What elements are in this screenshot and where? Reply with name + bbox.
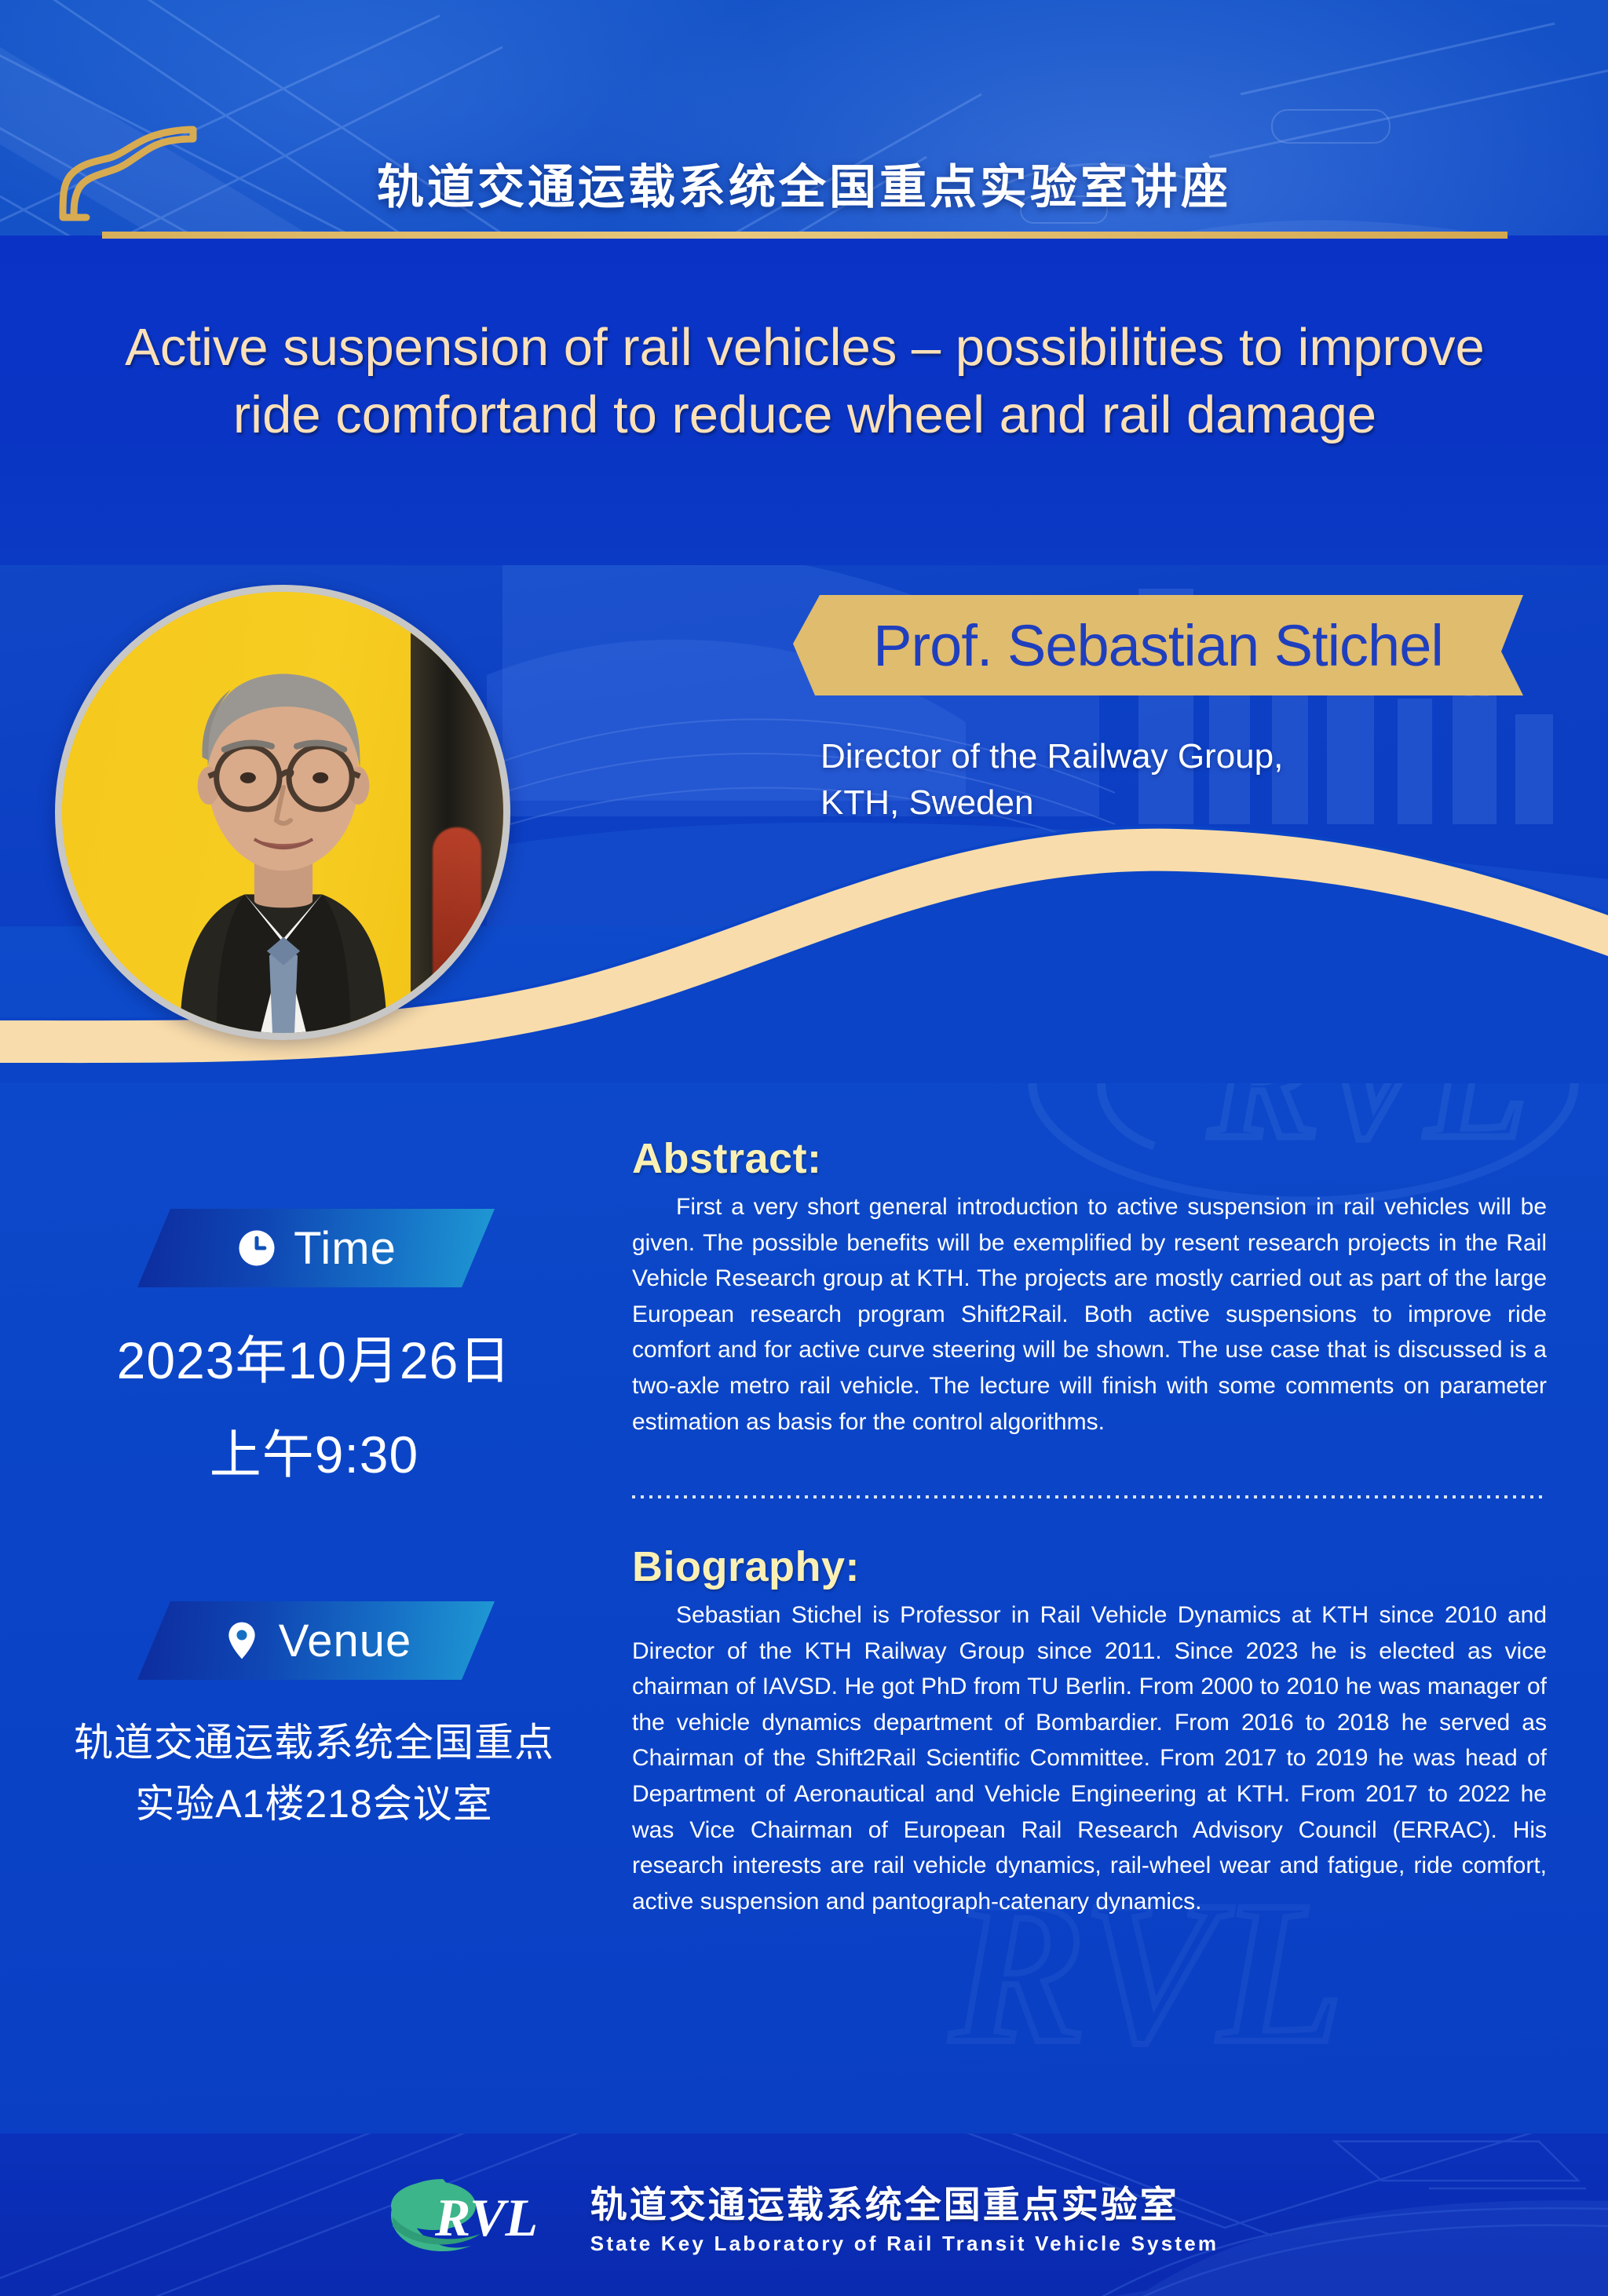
lecture-title-line2: ride comfortand to reduce wheel and rail…: [86, 381, 1523, 449]
abstract-section: Abstract: First a very short general int…: [632, 1134, 1547, 1440]
header-gold-rule: [102, 232, 1507, 239]
map-pin-icon: [221, 1619, 263, 1662]
time-badge-label: Time: [294, 1222, 397, 1275]
biography-section: Biography: Sebastian Stichel is Professo…: [632, 1542, 1547, 1919]
rvl-logo: RVL: [389, 2168, 570, 2262]
speaker-portrait: [55, 585, 510, 1040]
page-title: 轨道交通运载系统全国重点实验室讲座: [0, 149, 1608, 217]
footer-lab-name: 轨道交通运载系统全国重点实验室 State Key Laboratory of …: [590, 2174, 1219, 2256]
footer-name-cn: 轨道交通运载系统全国重点实验室: [590, 2174, 1219, 2228]
rvl-logo-text: RVL: [434, 2188, 538, 2247]
speaker-role-line1: Director of the Railway Group,: [820, 734, 1527, 780]
poster-root: RVL RVL 轨道交通运载系统全国重点实验室讲座 Active suspens…: [0, 0, 1608, 2296]
abstract-body-text: First a very short general introduction …: [632, 1194, 1547, 1435]
venue-line1: 轨道交通运载系统全国重点: [43, 1711, 585, 1768]
footer-bar: RVL 轨道交通运载系统全国重点实验室 State Key Laboratory…: [0, 2134, 1608, 2296]
time-hour: 上午9:30: [43, 1413, 585, 1488]
speaker-name: Prof. Sebastian Stichel: [873, 612, 1443, 679]
portrait-figure: [62, 592, 503, 1033]
speaker-role: Director of the Railway Group, KTH, Swed…: [820, 734, 1527, 826]
time-badge: Time: [137, 1209, 495, 1287]
biography-heading: Biography:: [632, 1542, 1547, 1591]
clock-icon: [236, 1227, 278, 1269]
footer-content: RVL 轨道交通运载系统全国重点实验室 State Key Laboratory…: [0, 2134, 1608, 2296]
venue-line2: 实验A1楼218会议室: [43, 1772, 585, 1829]
biography-body: Sebastian Stichel is Professor in Rail V…: [632, 1597, 1547, 1919]
time-date: 2023年10月26日: [43, 1319, 585, 1394]
lecture-title-line1: Active suspension of rail vehicles – pos…: [86, 314, 1523, 381]
venue-badge-label: Venue: [279, 1615, 412, 1667]
speaker-name-banner: Prof. Sebastian Stichel: [793, 595, 1523, 695]
footer-name-en: State Key Laboratory of Rail Transit Veh…: [590, 2232, 1219, 2256]
venue-badge: Venue: [137, 1601, 495, 1680]
section-divider: [632, 1495, 1547, 1498]
biography-body-text: Sebastian Stichel is Professor in Rail V…: [632, 1602, 1547, 1915]
abstract-body: First a very short general introduction …: [632, 1189, 1547, 1440]
abstract-heading: Abstract:: [632, 1134, 1547, 1183]
lecture-title: Active suspension of rail vehicles – pos…: [86, 314, 1523, 449]
speaker-role-line2: KTH, Sweden: [820, 780, 1527, 827]
